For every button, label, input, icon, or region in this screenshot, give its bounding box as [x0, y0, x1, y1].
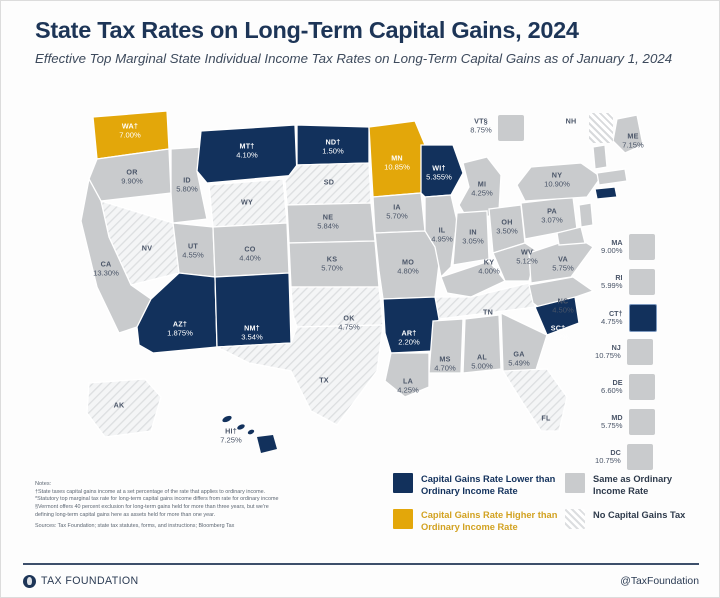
notes-block: Notes: †State taxes capital gains income…: [35, 481, 365, 529]
swatch-dc: [627, 444, 653, 470]
swatch-nj: [627, 339, 653, 365]
infographic-card: State Tax Rates on Long-Term Capital Gai…: [0, 0, 720, 598]
state-shape-az[interactable]: [137, 273, 217, 353]
legend-swatch-grey: [565, 473, 585, 493]
legend-swatch-gold: [393, 509, 413, 529]
state-shape-wi[interactable]: [421, 145, 463, 197]
swatch-vt[interactable]: [498, 115, 524, 141]
state-shape-ct-shape[interactable]: [595, 187, 617, 199]
state-shape-wy[interactable]: [209, 179, 287, 227]
state-shape-nd[interactable]: [297, 125, 369, 165]
state-shape-nj[interactable]: [579, 203, 593, 227]
state-shape-ne[interactable]: [287, 203, 375, 243]
legend-swatch-hatch: [565, 509, 585, 529]
state-shape-ks[interactable]: [289, 241, 379, 287]
tax-foundation-logo-icon: [23, 575, 36, 588]
state-shape-ok[interactable]: [291, 287, 383, 327]
brand-name: TAX FOUNDATION: [41, 575, 139, 587]
legend-swatch-navy: [393, 473, 413, 493]
legend-label-none: No Capital Gains Tax: [593, 509, 685, 521]
notes-line-1: †State taxes capital gains income at a s…: [35, 489, 365, 497]
box-de[interactable]: DE 6.60%: [601, 374, 655, 400]
state-shape-sd[interactable]: [285, 163, 371, 205]
legend-label-lower: Capital Gains Rate Lower than Ordinary I…: [421, 473, 563, 498]
footer: TAX FOUNDATION @TaxFoundation: [23, 570, 699, 592]
box-nj[interactable]: NJ 10.75%: [595, 339, 653, 365]
state-shape-al[interactable]: [463, 315, 501, 373]
swatch-ri: [629, 269, 655, 295]
legend-item-same[interactable]: Same as Ordinary Income Rate: [565, 473, 705, 498]
swatch-de: [629, 374, 655, 400]
box-md[interactable]: MD 5.75%: [601, 409, 655, 435]
state-shape-mn[interactable]: [369, 121, 425, 197]
box-dc[interactable]: DC 10.75%: [595, 444, 653, 470]
swatch-ma: [629, 234, 655, 260]
state-shape-ma[interactable]: [597, 169, 627, 185]
state-shape-ut[interactable]: [173, 223, 215, 277]
legend-item-higher[interactable]: Capital Gains Rate Higher than Ordinary …: [393, 509, 563, 534]
state-shape-hi[interactable]: [221, 415, 277, 453]
box-ct[interactable]: CT† 4.75%: [601, 304, 657, 332]
swatch-nh[interactable]: [589, 113, 613, 143]
legend-label-same: Same as Ordinary Income Rate: [593, 473, 705, 498]
state-shape-fl[interactable]: [503, 369, 567, 431]
sources-line: Sources: Tax Foundation; state tax statu…: [35, 523, 365, 529]
state-shape-in[interactable]: [453, 211, 489, 265]
brand-lockup[interactable]: TAX FOUNDATION: [23, 575, 139, 588]
state-shape-me[interactable]: [613, 115, 643, 153]
legend-item-none[interactable]: No Capital Gains Tax: [565, 509, 705, 529]
box-ma[interactable]: MA 9.00%: [601, 234, 655, 260]
state-shape-la[interactable]: [385, 353, 429, 397]
legend-label-higher: Capital Gains Rate Higher than Ordinary …: [421, 509, 563, 534]
notes-line-2: *Statutory top marginal tax rate for lon…: [35, 496, 365, 504]
state-shape-nm[interactable]: [215, 273, 291, 347]
social-handle[interactable]: @TaxFoundation: [620, 576, 699, 587]
box-ri[interactable]: RI 5.99%: [601, 269, 655, 295]
swatch-md: [629, 409, 655, 435]
state-shape-ga[interactable]: [501, 313, 547, 373]
swatch-ct: [629, 304, 657, 332]
us-choropleth-map: WA† 7.00% OR 9.90% ID 5.80% MT† 4.10% ND…: [1, 101, 720, 466]
state-shape-vt-nh-block[interactable]: [593, 145, 607, 169]
state-shape-ms[interactable]: [429, 319, 463, 373]
state-shape-ia[interactable]: [373, 193, 425, 233]
notes-line-3: §Vermont offers 40 percent exclusion for…: [35, 504, 365, 512]
notes-line-4: defining long-term capital gains here as…: [35, 512, 365, 520]
page-subtitle: Effective Top Marginal State Individual …: [35, 50, 675, 68]
state-shape-ak[interactable]: [87, 379, 161, 437]
header: State Tax Rates on Long-Term Capital Gai…: [35, 17, 695, 68]
legend-item-lower[interactable]: Capital Gains Rate Lower than Ordinary I…: [393, 473, 563, 498]
state-shape-co[interactable]: [213, 223, 289, 277]
page-title: State Tax Rates on Long-Term Capital Gai…: [35, 17, 695, 44]
state-shape-ny[interactable]: [517, 163, 601, 201]
notes-heading: Notes:: [35, 481, 365, 487]
state-shape-mt[interactable]: [197, 125, 297, 183]
footer-divider: [23, 563, 699, 565]
